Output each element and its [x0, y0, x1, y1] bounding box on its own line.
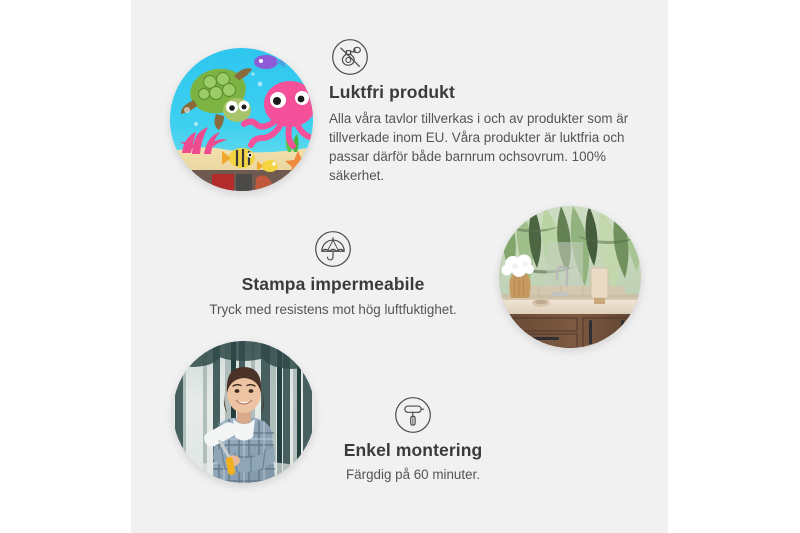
feature-waterproof: Stampa impermeabile Tryck med resistens …	[190, 230, 476, 319]
feature-easy-mounting: Enkel montering Färgdig på 60 minuter.	[300, 396, 526, 484]
feature-odourless: Luktfri produkt Alla våra tavlor tillver…	[329, 38, 629, 185]
paint-roller-icon	[394, 396, 432, 434]
umbrella-icon	[314, 230, 352, 268]
feature-body: Tryck med resistens mot hög luftfuktighe…	[190, 300, 476, 319]
photo-bathroom-botanical-wallpaper	[499, 206, 641, 348]
photo-underwater-cartoon-scene	[170, 48, 313, 191]
feature-title: Stampa impermeabile	[190, 274, 476, 295]
feature-body: Färgdig på 60 minuter.	[300, 465, 526, 484]
photo-woman-with-paint-roller-forest	[173, 341, 315, 483]
feature-body: Alla våra tavlor tillverkas i och av pro…	[329, 109, 629, 185]
feature-title: Enkel montering	[300, 440, 526, 461]
no-fragrance-icon	[331, 38, 629, 76]
feature-title: Luktfri produkt	[329, 82, 629, 103]
promo-banner: Luktfri produkt Alla våra tavlor tillver…	[0, 0, 800, 533]
